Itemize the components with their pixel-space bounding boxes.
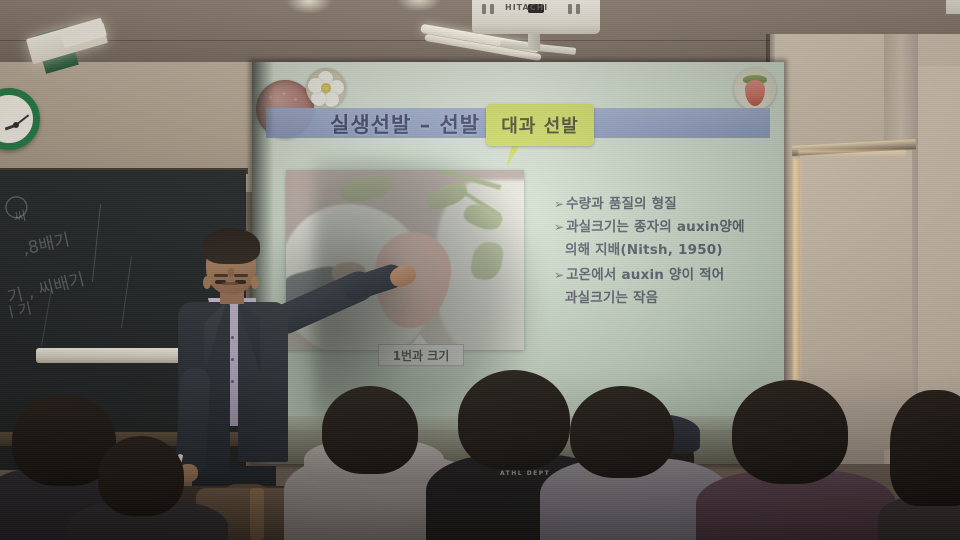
presenter-hair <box>202 228 260 264</box>
bag-strap <box>250 488 264 540</box>
presenter-ear <box>203 276 211 289</box>
projector-vent <box>490 4 494 14</box>
projector-top-panel <box>946 0 960 14</box>
audience-head <box>890 390 960 506</box>
projector-mount <box>528 32 540 50</box>
presenter-nose <box>228 268 234 277</box>
projector-vent <box>576 4 580 14</box>
audience-head <box>570 386 674 478</box>
presenter-brow <box>234 274 248 277</box>
window-light-leak-top <box>798 150 906 157</box>
clock-center <box>13 122 19 128</box>
presenter-ear <box>251 276 259 289</box>
projector-vent <box>568 4 572 14</box>
presenter-mouth <box>222 282 238 285</box>
audience-head <box>322 386 418 474</box>
audience-head <box>98 436 184 516</box>
classroom-photo: ◯ 씨 ,8배기 기 , 씨배기 ㅣ기 HITACHI <box>0 0 960 540</box>
projector-vent <box>482 4 486 14</box>
ceiling-light-glow <box>396 0 442 12</box>
presenter-brow <box>214 274 228 277</box>
audience-member <box>540 380 720 540</box>
audience-member <box>78 420 208 540</box>
audience-member <box>886 390 960 540</box>
audience-head <box>732 380 848 484</box>
presenter-jacket-right <box>238 302 288 462</box>
audience-member <box>700 380 890 540</box>
ceiling-light-glow <box>286 0 332 14</box>
projector-brand-label: HITACHI <box>505 3 548 12</box>
